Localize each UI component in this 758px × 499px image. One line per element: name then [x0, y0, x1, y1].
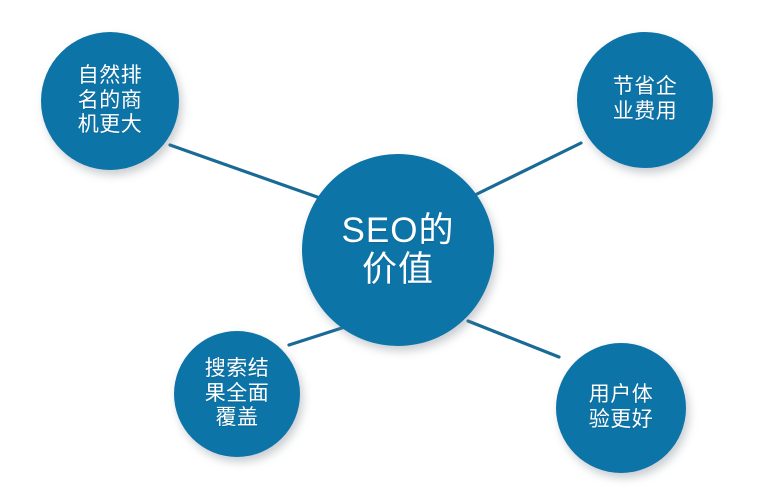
seo-value-mind-map: SEO的 价值 自然排 名的商 机更大 节省企 业费用 搜索结 果全面 覆盖 用…	[0, 0, 758, 499]
center-node-label: SEO的 价值	[342, 211, 455, 289]
node-better-user-experience[interactable]: 用户体 验更好	[556, 343, 686, 473]
node-label-full-search-coverage: 搜索结 果全面 覆盖	[205, 357, 270, 431]
center-node-seo-value[interactable]: SEO的 价值	[302, 154, 494, 346]
edge-center-organic-ranking	[170, 145, 320, 198]
node-label-save-enterprise-cost: 节省企 业费用	[613, 75, 678, 125]
edge-center-search-coverage	[289, 326, 348, 345]
node-label-better-user-experience: 用户体 验更好	[589, 383, 654, 433]
node-organic-ranking-opportunity[interactable]: 自然排 名的商 机更大	[41, 32, 179, 170]
edge-center-save-cost	[477, 143, 581, 194]
edge-center-user-experience	[468, 321, 559, 357]
node-full-search-coverage[interactable]: 搜索结 果全面 覆盖	[174, 331, 300, 457]
node-save-enterprise-cost[interactable]: 节省企 业费用	[577, 32, 713, 168]
node-label-organic-ranking-opportunity: 自然排 名的商 机更大	[78, 64, 143, 138]
